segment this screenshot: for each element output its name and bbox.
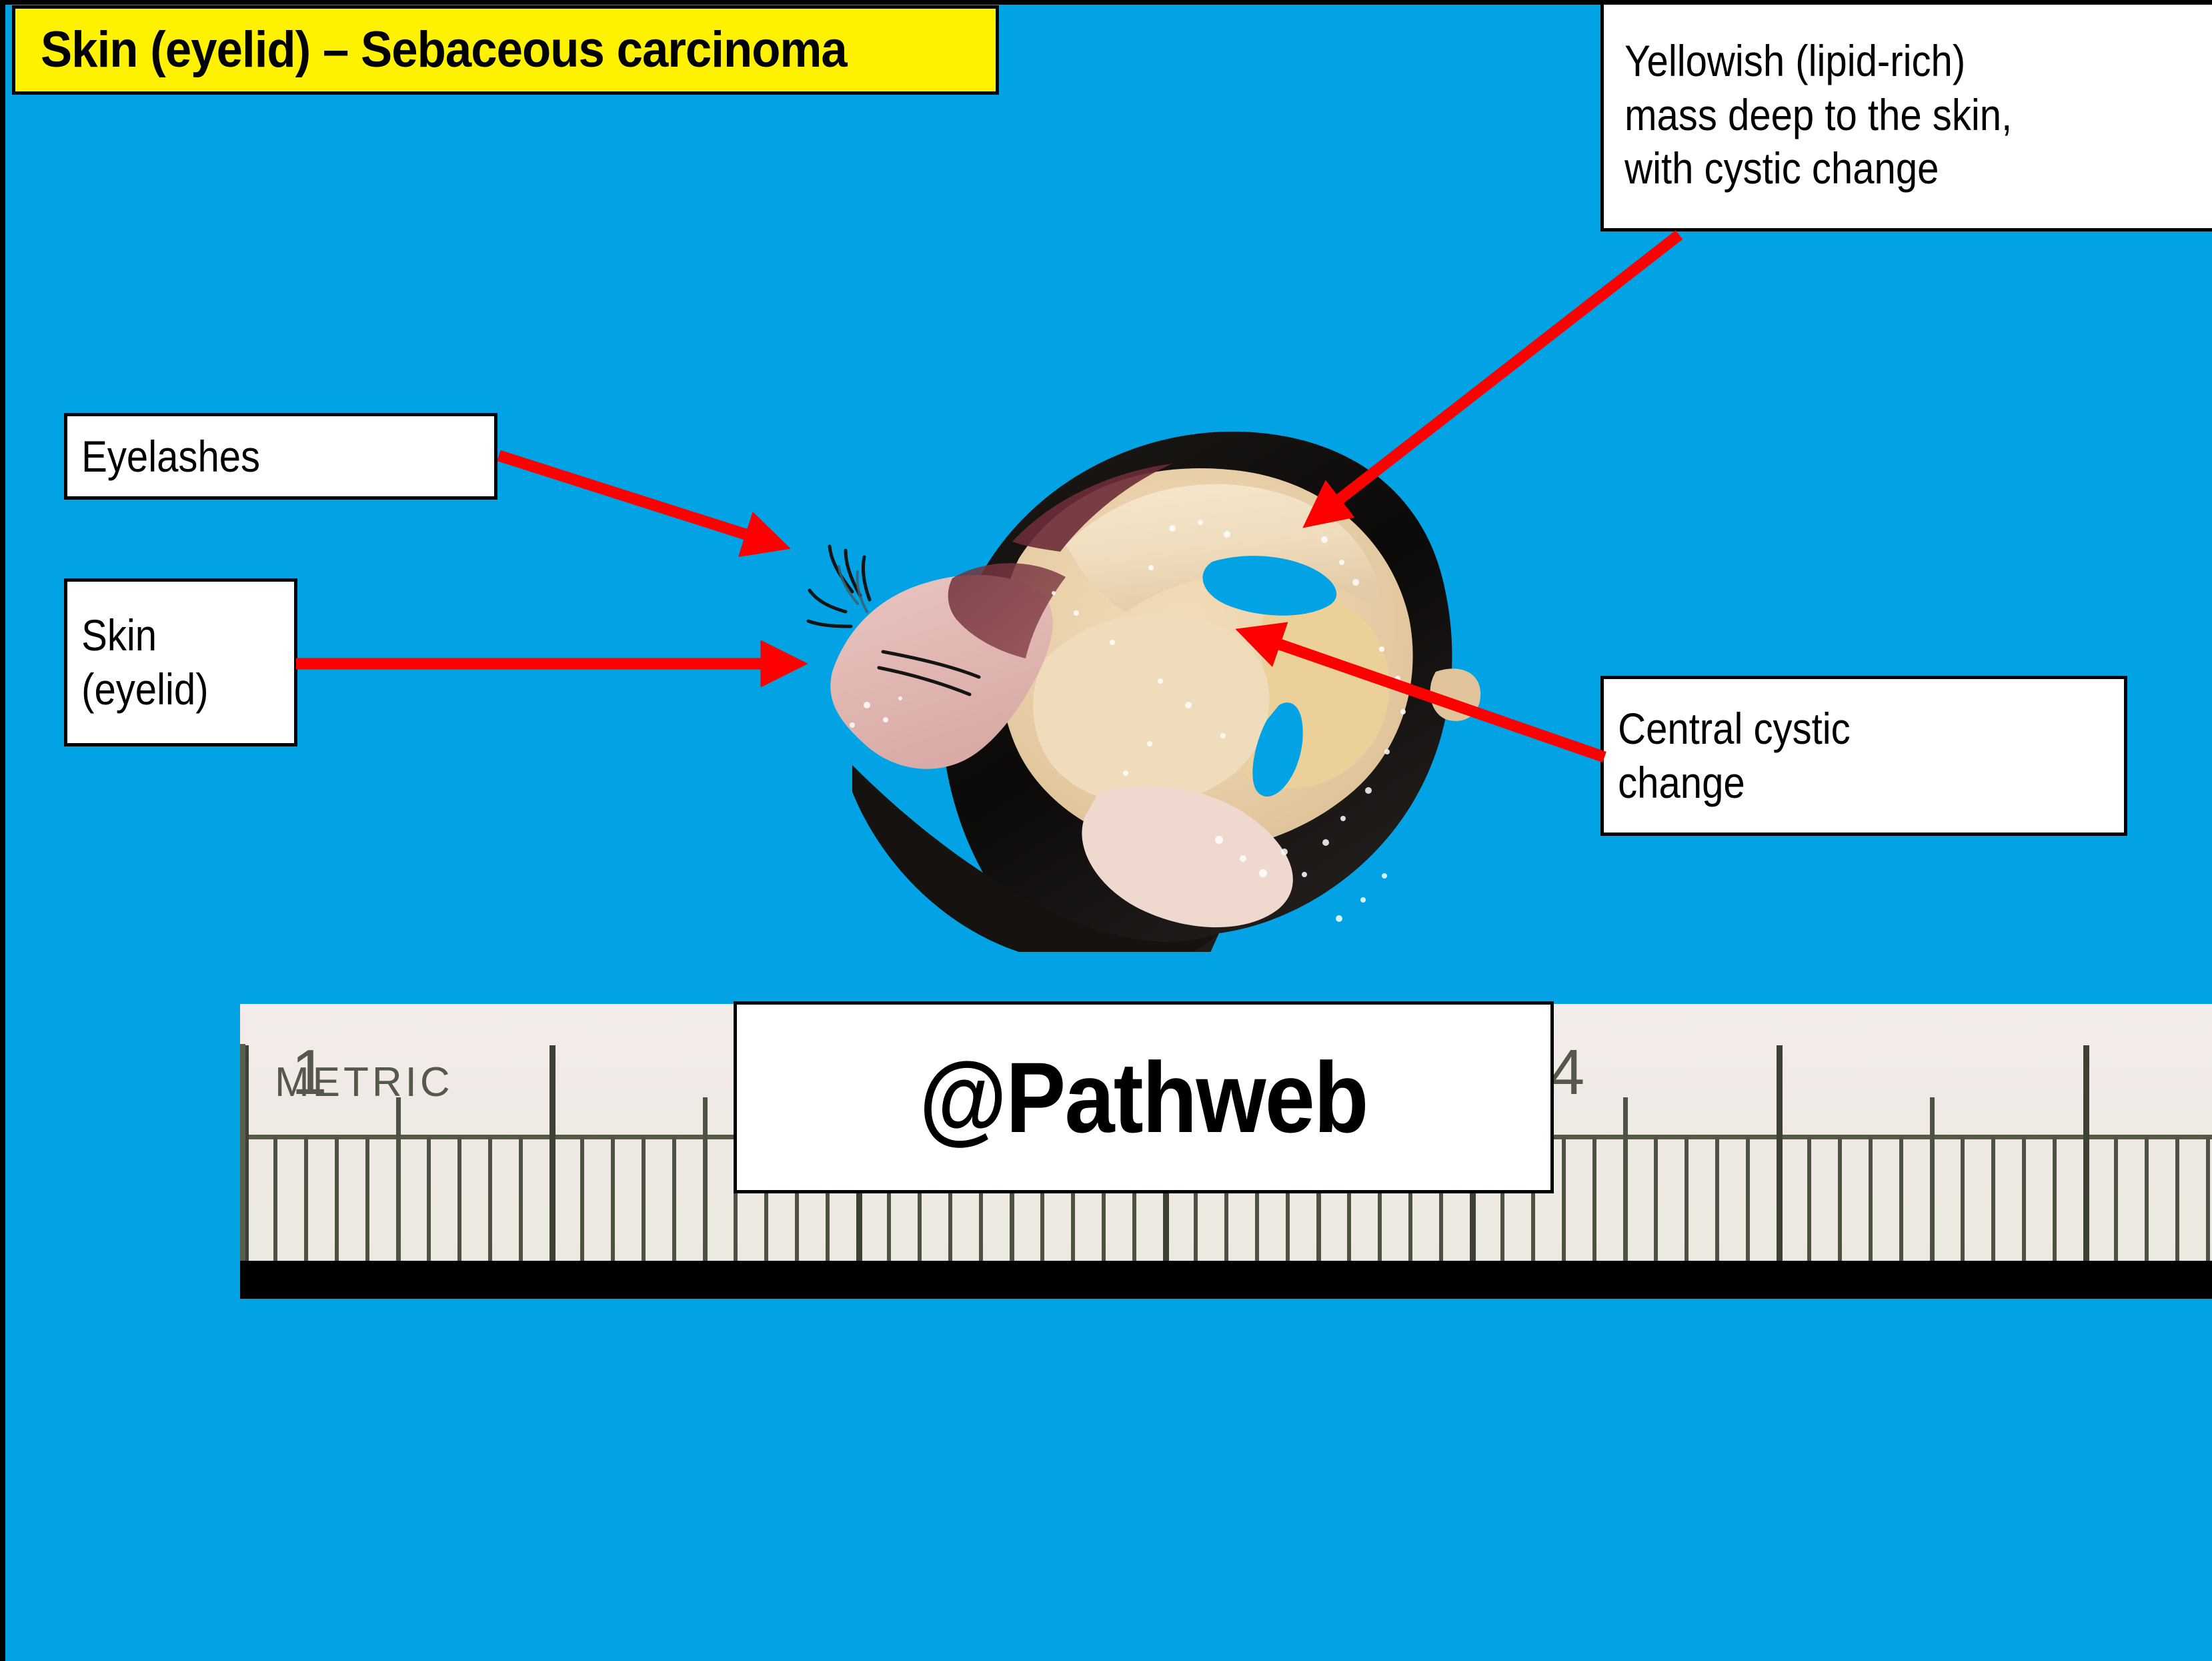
callout-line: Eyelashes	[67, 430, 443, 484]
slide-canvas: Skin (eyelid) – Sebaceous carcinoma	[0, 0, 2212, 1661]
callout-central-cystic-change: Central cystic change	[1600, 676, 2127, 836]
watermark-text: @Pathweb	[920, 1040, 1368, 1155]
arrow-eyelashes	[499, 456, 779, 545]
watermark-badge: @Pathweb	[734, 1001, 1554, 1193]
callout-eyelashes: Eyelashes	[64, 413, 497, 500]
callout-line: Skin	[67, 608, 267, 662]
ruler-tick-label-1: 1	[291, 1036, 327, 1109]
callout-skin-eyelid: Skin (eyelid)	[64, 578, 297, 746]
callout-line: (eyelid)	[67, 662, 267, 716]
callout-line: Yellowish (lipid-rich)	[1610, 34, 2145, 88]
ruler-black-strip	[240, 1261, 2212, 1299]
page-title: Skin (eyelid) – Sebaceous carcinoma	[41, 25, 847, 75]
callout-line: Central cystic	[1604, 702, 2061, 756]
ruler-tick-label-4: 4	[1549, 1036, 1584, 1109]
callout-line: change	[1604, 756, 2061, 810]
callout-yellowish-mass: Yellowish (lipid-rich) mass deep to the …	[1600, 0, 2212, 231]
slide-title-banner: Skin (eyelid) – Sebaceous carcinoma	[12, 5, 999, 95]
callout-line: with cystic change	[1610, 141, 2145, 195]
specimen-photograph	[752, 392, 1499, 952]
callout-line: mass deep to the skin,	[1610, 88, 2145, 142]
